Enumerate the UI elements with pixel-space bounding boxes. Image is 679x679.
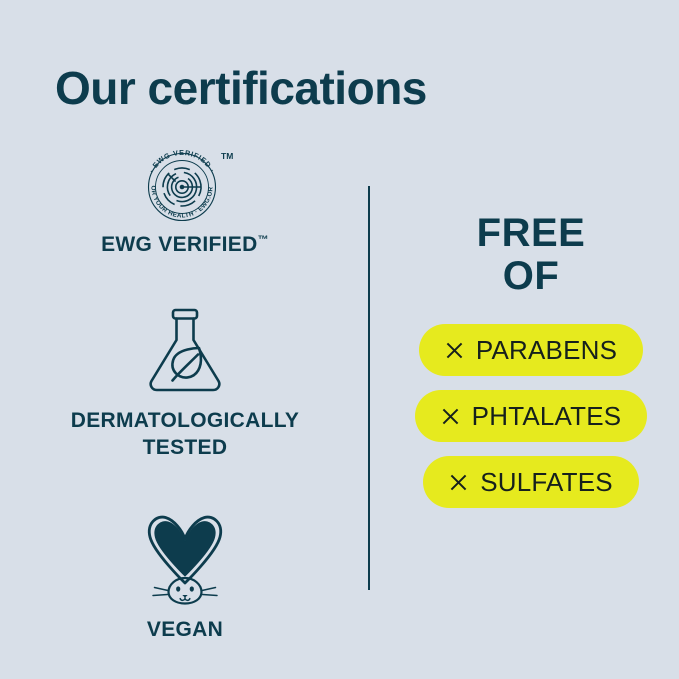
certification-label-dermatologically-tested: DERMATOLOGICALLY TESTED bbox=[20, 408, 350, 461]
ewg-verified-seal-icon: · EWG VERIFIED · · FOR YOUR HEALTH · EWG… bbox=[20, 140, 350, 222]
certification-item-ewg-verified: · EWG VERIFIED · · FOR YOUR HEALTH · EWG… bbox=[20, 140, 350, 258]
svg-text:· EWG VERIFIED ·: · EWG VERIFIED · bbox=[147, 148, 217, 174]
free-of-pill-sulfates[interactable]: SULFATES bbox=[423, 456, 639, 508]
certifications-list: · EWG VERIFIED · · FOR YOUR HEALTH · EWG… bbox=[20, 140, 350, 643]
certification-label-vegan: VEGAN bbox=[20, 617, 350, 643]
free-of-section: FREE OF PARABENS PHTALATES bbox=[400, 212, 662, 508]
x-icon bbox=[441, 407, 460, 426]
cert-label-line-2: TESTED bbox=[143, 436, 228, 459]
bunny-heart-ears-icon bbox=[20, 507, 350, 607]
flask-leaf-icon bbox=[20, 304, 350, 398]
free-of-pill-parabens[interactable]: PARABENS bbox=[419, 324, 643, 376]
free-of-heading-line-1: FREE bbox=[477, 211, 586, 255]
free-of-heading-line-2: OF bbox=[400, 255, 662, 298]
free-of-pill-label: PHTALATES bbox=[472, 401, 622, 432]
certification-label-ewg-verified: EWG VERIFIED™ bbox=[20, 232, 350, 258]
svg-text:TM: TM bbox=[221, 151, 233, 161]
free-of-pill-label: PARABENS bbox=[476, 335, 617, 366]
trademark-symbol: ™ bbox=[258, 234, 269, 246]
page-title: Our certifications bbox=[55, 63, 427, 114]
certification-item-vegan: VEGAN bbox=[20, 507, 350, 643]
free-of-pill-label: SULFATES bbox=[480, 467, 613, 498]
free-of-pill-list: PARABENS PHTALATES SULFATES bbox=[400, 324, 662, 508]
free-of-heading: FREE OF bbox=[400, 212, 662, 298]
x-icon bbox=[449, 473, 468, 492]
certifications-panel: Our certifications · EWG VERIFIED · bbox=[0, 0, 679, 679]
x-icon bbox=[445, 341, 464, 360]
cert-label-text: EWG VERIFIED bbox=[101, 233, 257, 256]
cert-label-line-1: DERMATOLOGICALLY bbox=[71, 409, 299, 432]
free-of-pill-phtalates[interactable]: PHTALATES bbox=[415, 390, 648, 442]
certification-item-dermatologically-tested: DERMATOLOGICALLY TESTED bbox=[20, 304, 350, 461]
vertical-divider bbox=[368, 186, 370, 590]
